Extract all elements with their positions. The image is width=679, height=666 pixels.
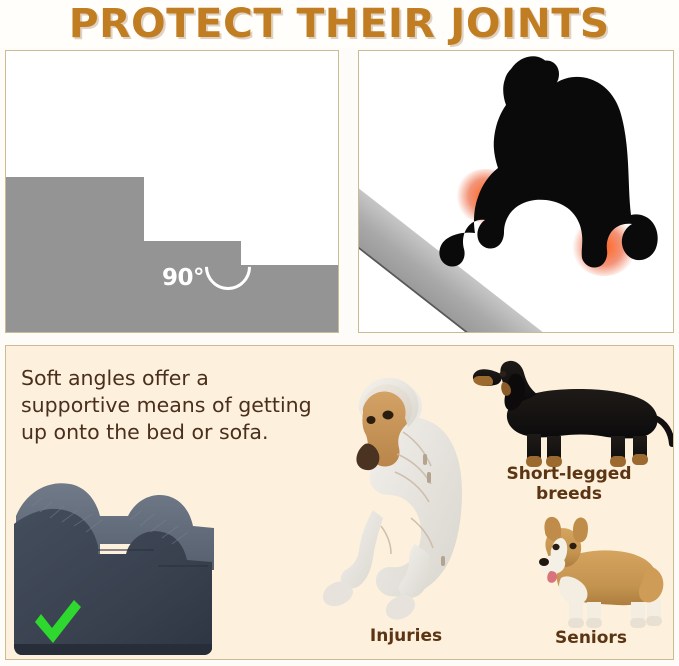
dog-card-short-legged: Short-legged breeds <box>461 356 674 496</box>
solution-description: Soft angles offer a supportive means of … <box>21 365 321 446</box>
dachshund-image <box>461 356 674 476</box>
page-title: PROTECT THEIR JOINTS <box>69 1 610 47</box>
angle-label: 90° <box>162 265 204 291</box>
caption-line-1: Short-legged <box>507 464 632 484</box>
caption-seniors: Seniors <box>511 628 671 648</box>
panel-soft-angle-solution: Soft angles offer a supportive means of … <box>5 345 674 660</box>
stair-step-top <box>241 265 339 333</box>
stair-step-bottom <box>6 177 144 333</box>
infographic-root: PROTECT THEIR JOINTS 90° Soft angles <box>0 0 679 666</box>
header-banner: PROTECT THEIR JOINTS <box>0 0 679 48</box>
dog-card-seniors: Seniors <box>511 516 671 660</box>
red-x-icon <box>379 329 423 333</box>
panel-steep-ramp <box>358 50 674 333</box>
green-check-icon <box>31 598 83 646</box>
ramp-graphic <box>359 51 673 332</box>
caption-short-legged-breeds: Short-legged breeds <box>461 464 674 504</box>
panel-hard-angle-stairs: 90° <box>5 50 339 333</box>
red-x-icon <box>18 329 62 333</box>
dog-silhouette-icon <box>415 53 674 291</box>
caption-line-2: breeds <box>536 484 602 504</box>
caption-injuries: Injuries <box>311 626 501 646</box>
corgi-image <box>511 516 671 636</box>
